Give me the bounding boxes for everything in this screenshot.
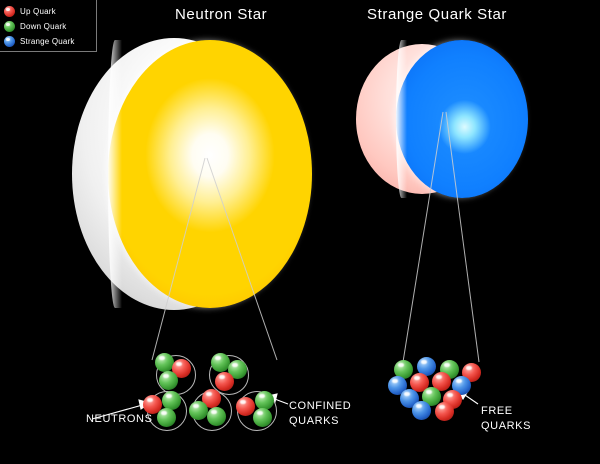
up-quark-sphere xyxy=(236,397,255,416)
confined-quarks-callout-label: CONFINED QUARKS xyxy=(289,399,351,429)
legend-item-up-quark: Up Quark xyxy=(4,4,96,19)
neutron-star-cutaway-edge xyxy=(108,40,122,308)
strange-quark-star-illustration xyxy=(356,40,528,198)
up-quark-sphere-icon xyxy=(4,6,15,17)
legend-item-down-quark: Down Quark xyxy=(4,19,96,34)
legend-label-down-quark: Down Quark xyxy=(20,22,66,31)
confined-quarks-line2: QUARKS xyxy=(289,414,351,429)
strange-quark-sphere xyxy=(412,401,431,420)
free-quarks-line1: FREE xyxy=(481,404,531,419)
neutron-star-title: Neutron Star xyxy=(175,6,267,23)
down-quark-sphere xyxy=(255,391,274,410)
free-quarks-line2: QUARKS xyxy=(481,419,531,434)
strange-quark-sphere-icon xyxy=(4,36,15,47)
down-quark-sphere xyxy=(159,371,178,390)
free-quarks-callout-label: FREE QUARKS xyxy=(481,404,531,434)
down-quark-sphere xyxy=(189,401,208,420)
down-quark-sphere-icon xyxy=(4,21,15,32)
quark-star-core xyxy=(396,40,528,198)
quark-star-cutaway-edge xyxy=(396,40,407,198)
diagram-canvas: Up Quark Down Quark Strange Quark Neutro… xyxy=(0,0,600,464)
legend-label-strange-quark: Strange Quark xyxy=(20,37,75,46)
free-quarks-arrow-line xyxy=(462,393,478,404)
neutron-star-core xyxy=(108,40,312,308)
down-quark-sphere xyxy=(157,408,176,427)
down-quark-sphere xyxy=(155,353,174,372)
up-quark-sphere xyxy=(215,372,234,391)
down-quark-sphere xyxy=(253,408,272,427)
down-quark-sphere xyxy=(211,353,230,372)
legend-label-up-quark: Up Quark xyxy=(20,7,56,16)
confined-quarks-line1: CONFINED xyxy=(289,399,351,414)
neutrons-callout-label: NEUTRONS xyxy=(86,413,153,425)
neutron-star-illustration xyxy=(72,38,312,310)
down-quark-sphere xyxy=(162,391,181,410)
strange-quark-star-title: Strange Quark Star xyxy=(367,6,507,23)
up-quark-sphere xyxy=(435,402,454,421)
down-quark-sphere xyxy=(207,407,226,426)
